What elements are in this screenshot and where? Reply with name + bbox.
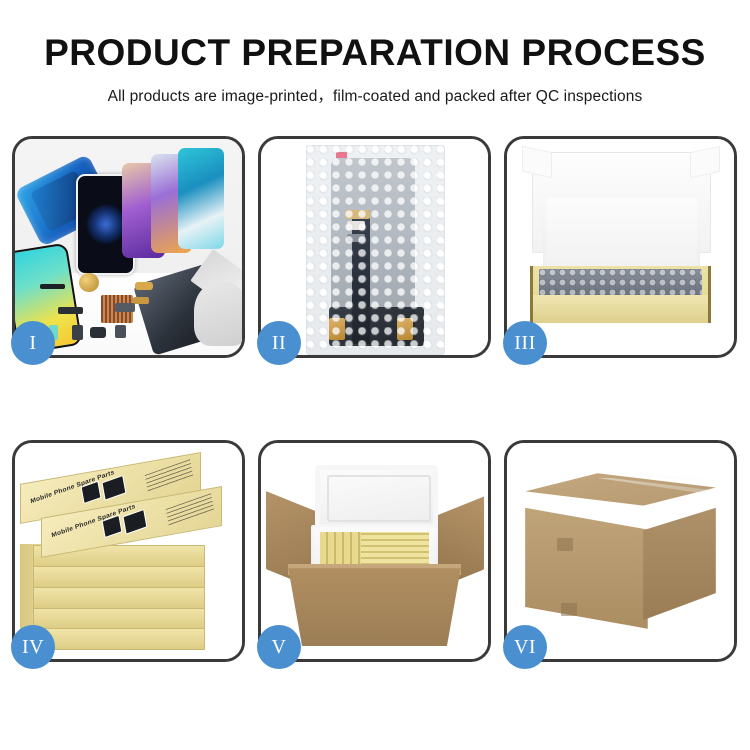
step-badge-4: IV [11, 625, 55, 669]
connector-white [347, 221, 365, 230]
component-connector [115, 303, 135, 312]
stacked-box [33, 587, 205, 609]
component-small-b [90, 327, 106, 338]
bubble-wrapped-contents [539, 269, 702, 297]
step-badge-2: II [257, 321, 301, 365]
pink-sticker [336, 152, 347, 158]
stacked-box [33, 566, 205, 588]
step-card-4[interactable]: Mobile Phone Spare Parts Mobile Phone Sp… [12, 440, 245, 662]
step-card-5[interactable]: V [258, 440, 491, 662]
step-image-3 [507, 139, 734, 355]
step-card-6[interactable]: VI [504, 440, 737, 662]
component-gold-b [133, 297, 149, 305]
step-badge-1: I [11, 321, 55, 365]
gold-contact-left [329, 318, 345, 340]
foam-sheet [543, 197, 700, 273]
step-card-2[interactable]: II [258, 136, 491, 358]
box-screen-graphic [102, 515, 123, 538]
step-image-2 [261, 139, 488, 355]
component-gold-a [135, 282, 153, 291]
step-image-4: Mobile Phone Spare Parts Mobile Phone Sp… [15, 443, 242, 659]
gold-contact-right [397, 318, 413, 340]
page-subtitle: All products are image-printed，film-coat… [0, 84, 750, 106]
carton-front-face [525, 508, 648, 629]
tray-edge-right [708, 266, 712, 322]
step-card-1[interactable]: I [12, 136, 245, 358]
connector-gold [345, 210, 370, 219]
outer-carton [288, 568, 461, 646]
tray-front-wall [530, 295, 712, 323]
box-checklist [166, 493, 215, 527]
component-small-a [72, 325, 83, 340]
step-badge-5: V [257, 625, 301, 669]
steps-grid: I II [12, 136, 738, 684]
phone-screen-teal [178, 148, 223, 250]
connector-gray [347, 234, 365, 242]
header: PRODUCT PREPARATION PROCESS All products… [0, 0, 750, 106]
step-image-6 [507, 443, 734, 659]
component-strip [40, 284, 65, 289]
carton-side-face [643, 508, 716, 620]
carton-seam-a [557, 538, 573, 551]
stacked-box [33, 628, 205, 650]
step-card-3[interactable]: III [504, 136, 737, 358]
hand-shape [194, 282, 242, 347]
step-image-1 [15, 139, 242, 355]
foam-cooler-lid [315, 465, 438, 530]
page-title: PRODUCT PREPARATION PROCESS [0, 34, 750, 73]
step-badge-3: III [503, 321, 547, 365]
product-preparation-infographic: PRODUCT PREPARATION PROCESS All products… [0, 0, 750, 750]
carton-seam-b [561, 603, 577, 616]
step-image-5 [261, 443, 488, 659]
component-small-c [115, 325, 126, 338]
component-speaker-coil [79, 273, 99, 292]
stacked-box [33, 607, 205, 629]
component-flex-cable [58, 307, 83, 313]
tray-edge-left [530, 266, 534, 322]
box-stack: Mobile Phone Spare Parts Mobile Phone Sp… [20, 460, 238, 650]
box-checklist [144, 459, 193, 493]
step-badge-6: VI [503, 625, 547, 669]
